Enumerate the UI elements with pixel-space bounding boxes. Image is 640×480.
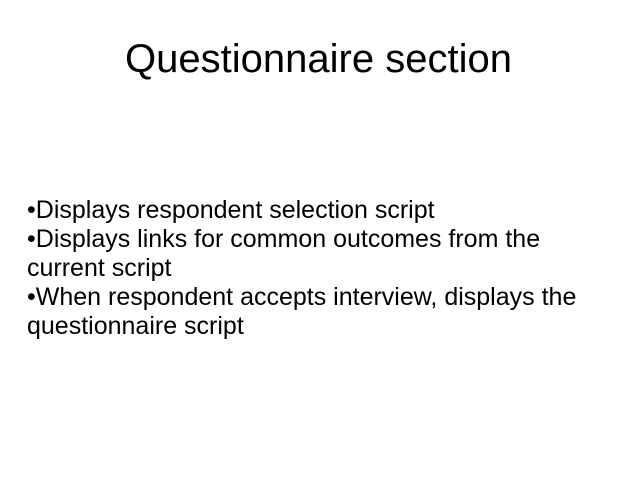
bullet-line-text: questionnaire script — [27, 312, 244, 340]
bullet-dot-icon: • — [27, 196, 36, 224]
slide-canvas: Questionnaire section •Displays responde… — [0, 0, 640, 480]
bullet-dot-icon: • — [27, 283, 36, 311]
bullet-wrap-line: questionnaire script — [27, 312, 617, 341]
bullet-line-text: Displays respondent selection script — [36, 196, 435, 224]
bullet-line-text: When respondent accepts interview, displ… — [36, 283, 577, 311]
bullet-line: •When respondent accepts interview, disp… — [27, 283, 617, 312]
bullet-line-text: Displays links for common outcomes from … — [36, 225, 540, 253]
bullet-line: •Displays links for common outcomes from… — [27, 225, 617, 254]
bullet-wrap-line: current script — [27, 254, 617, 283]
bullet-dot-icon: • — [27, 225, 36, 253]
bullet-line: •Displays respondent selection script — [27, 196, 617, 225]
page-title: Questionnaire section — [0, 36, 637, 82]
slide-body-text: •Displays respondent selection script •D… — [27, 196, 617, 341]
bullet-line-text: current script — [27, 254, 171, 282]
